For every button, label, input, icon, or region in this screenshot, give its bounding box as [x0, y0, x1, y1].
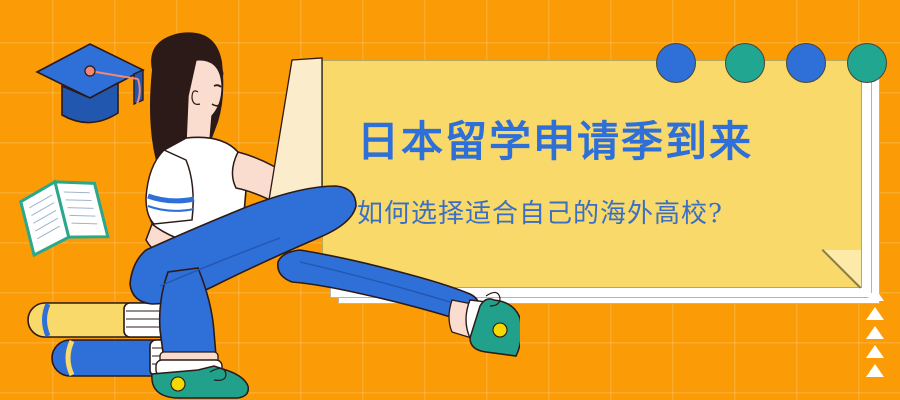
decor-triangle [866, 307, 884, 320]
person-figure [130, 32, 520, 398]
shoe-left [152, 352, 248, 398]
decor-circle-1 [656, 43, 696, 83]
promo-banner: 日本留学申请季到来 如何选择适合自己的海外高校? [0, 0, 900, 400]
graduation-cap-icon [37, 44, 143, 123]
student-illustration [0, 0, 520, 400]
decor-triangle [866, 345, 884, 358]
decor-circle-2 [725, 43, 765, 83]
decor-circle-4 [847, 43, 887, 83]
decor-triangle [866, 288, 884, 301]
decor-circle-3 [786, 43, 826, 83]
shoe-right [449, 292, 520, 356]
decor-triangle [866, 364, 884, 377]
open-book-icon [18, 173, 108, 255]
decor-triangle [866, 326, 884, 339]
decor-triangle-column [866, 288, 884, 377]
